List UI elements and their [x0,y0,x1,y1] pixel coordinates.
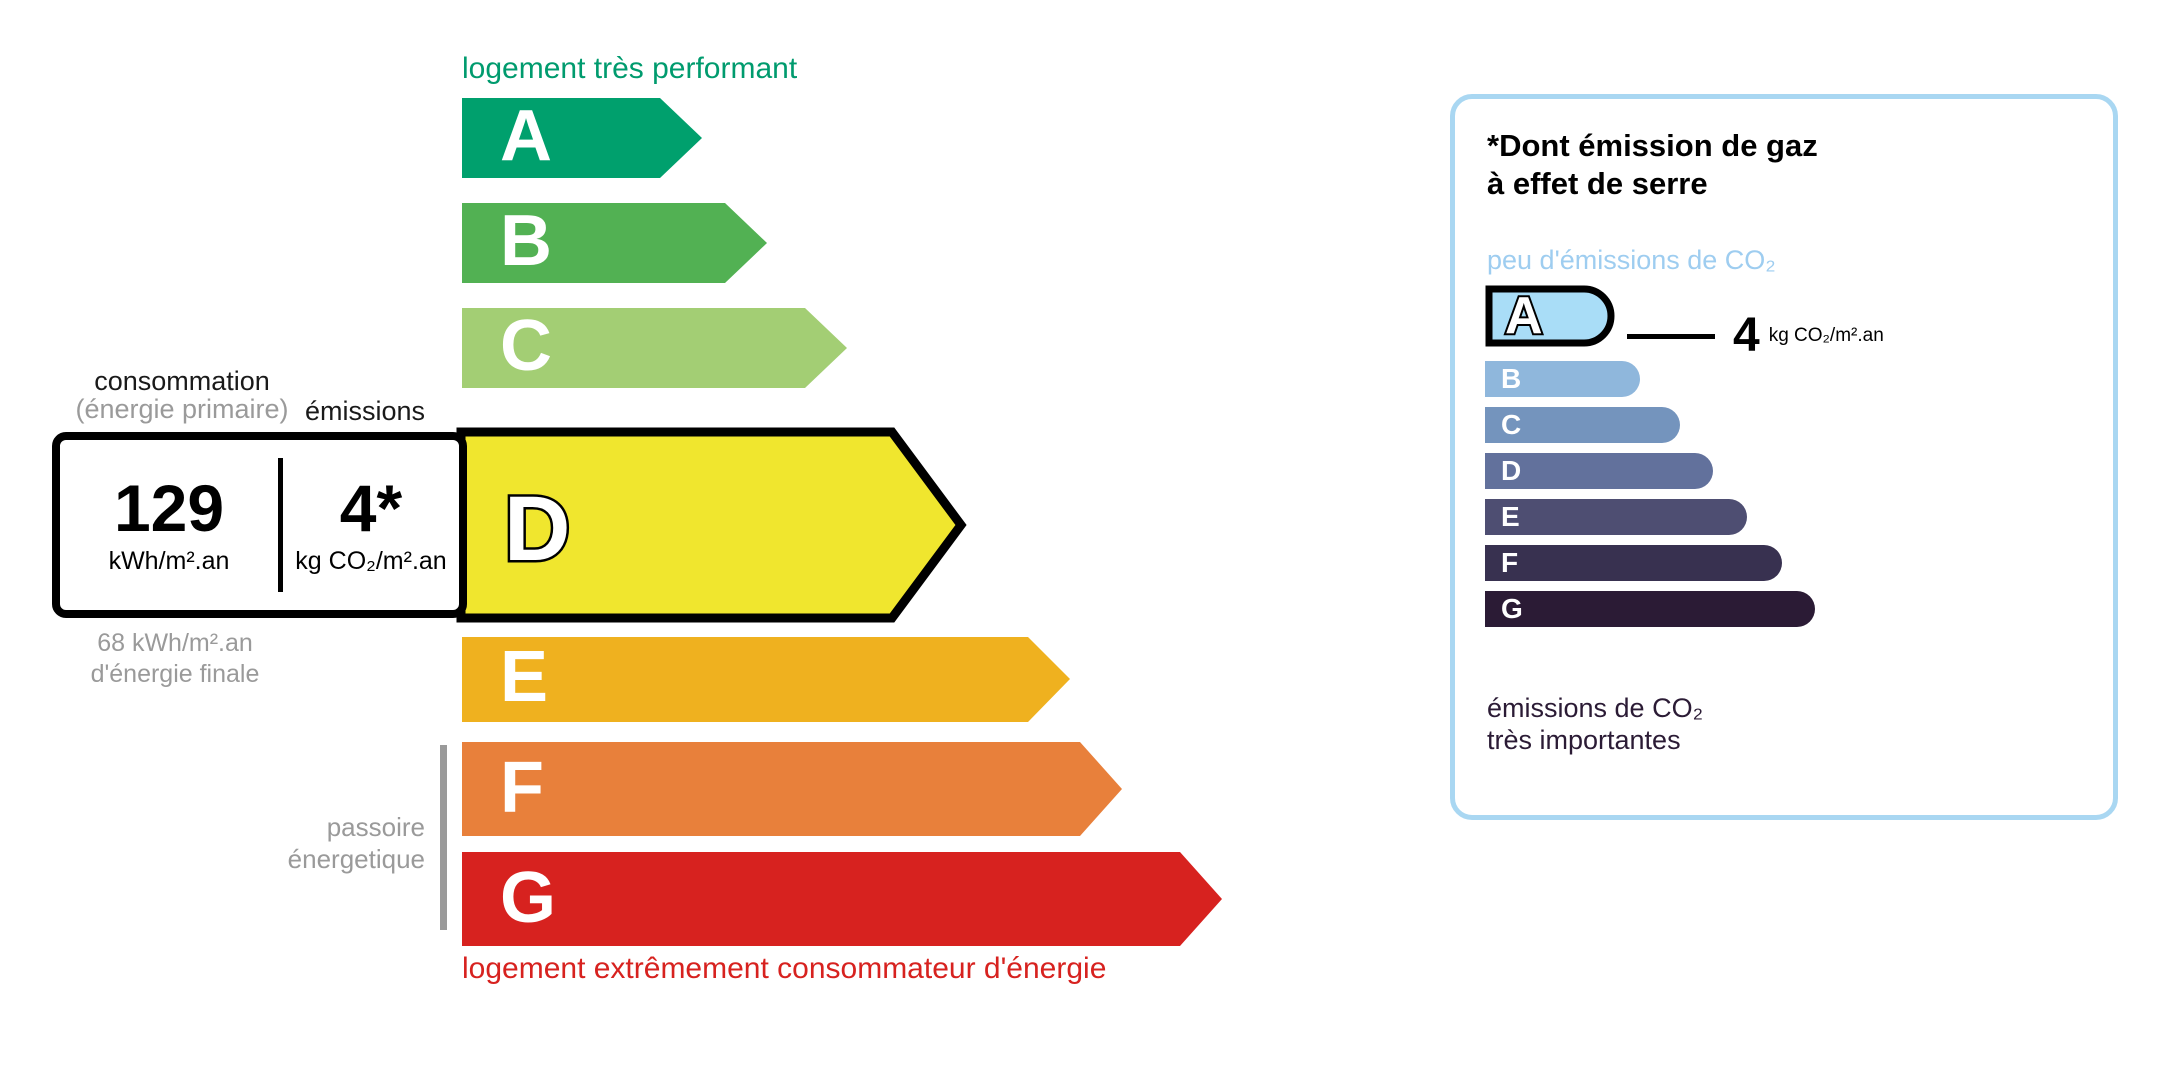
passoire-label: passoire énergetique [240,812,425,875]
co2-bar-a-selected[interactable]: A [1485,285,1615,347]
co2-panel-title: *Dont émission de gaz à effet de serre [1487,127,1818,203]
co2-bar-b-letter: B [1501,365,1521,393]
energy-bar-f[interactable]: F [462,742,1122,836]
energy-bar-e[interactable]: E [462,637,1070,722]
co2-emissions-panel: *Dont émission de gaz à effet de serre p… [1450,94,2118,820]
energy-bar-d-letter: D [504,478,570,580]
scale-bottom-caption: logement extrêmement consommateur d'éner… [462,952,1106,986]
co2-bar-c-letter: C [1501,411,1521,439]
passoire-marker-bar [440,745,447,930]
energy-bar-d-selected[interactable]: D [456,427,966,623]
consumption-header-line2: (énergie primaire) [62,395,302,423]
energy-bar-f-letter: F [500,748,544,828]
co2-bottom-caption-line2: très importantes [1487,724,1703,756]
co2-bar-d-letter: D [1501,457,1521,485]
emissions-header: émissions [305,396,425,427]
energy-bar-c-letter: C [500,306,552,386]
final-energy-line2: d'énergie finale [60,659,290,690]
scale-top-caption: logement très performant [462,52,797,86]
co2-panel-title-line1: *Dont émission de gaz [1487,127,1818,165]
co2-bar-e[interactable]: E [1485,499,1747,535]
co2-bar-b[interactable]: B [1485,361,1640,397]
consumption-header: consommation (énergie primaire) [62,367,302,424]
final-energy-note: 68 kWh/m².an d'énergie finale [60,628,290,689]
co2-bar-a-letter: A [1505,287,1543,345]
co2-bottom-caption: émissions de CO₂ très importantes [1487,692,1703,757]
dpe-diagram: logement très performant A B C [0,0,2169,1079]
co2-bar-g[interactable]: G [1485,591,1815,627]
final-energy-line1: 68 kWh/m².an [60,628,290,659]
consumption-value: 129 [114,475,224,541]
passoire-label-line2: énergetique [240,844,425,876]
emissions-unit: kg CO₂/m².an [295,547,446,576]
co2-value-callout: 4 kg CO₂/m².an [1627,312,1884,360]
consumption-header-line1: consommation [62,367,302,395]
co2-panel-title-line2: à effet de serre [1487,165,1818,203]
passoire-label-line1: passoire [240,812,425,844]
co2-bar-f-letter: F [1501,549,1518,577]
co2-bar-g-letter: G [1501,595,1523,623]
co2-bar-d[interactable]: D [1485,453,1713,489]
co2-value: 4 [1733,312,1760,360]
energy-bar-a[interactable]: A [462,98,702,178]
consumption-cell: 129 kWh/m².an [60,440,278,610]
co2-bottom-caption-line1: émissions de CO₂ [1487,692,1703,724]
energy-bar-g-letter: G [500,858,556,938]
energy-bar-g[interactable]: G [462,852,1222,946]
co2-top-caption: peu d'émissions de CO₂ [1487,245,1776,276]
energy-performance-scale: logement très performant A B C [0,0,1400,1079]
energy-bar-e-letter: E [500,637,548,717]
co2-bar-f[interactable]: F [1485,545,1782,581]
energy-bar-b-letter: B [500,201,552,281]
emissions-cell: 4* kg CO₂/m².an [283,440,459,610]
energy-bar-c[interactable]: C [462,308,847,388]
value-box: 129 kWh/m².an 4* kg CO₂/m².an [52,432,467,618]
energy-bar-a-letter: A [500,96,552,176]
co2-bar-c[interactable]: C [1485,407,1680,443]
co2-value-unit: kg CO₂/m².an [1769,325,1884,347]
emissions-value: 4* [340,475,402,541]
co2-callout-line [1627,334,1715,339]
energy-bar-b[interactable]: B [462,203,767,283]
consumption-unit: kWh/m².an [109,547,230,576]
co2-bar-e-letter: E [1501,503,1520,531]
